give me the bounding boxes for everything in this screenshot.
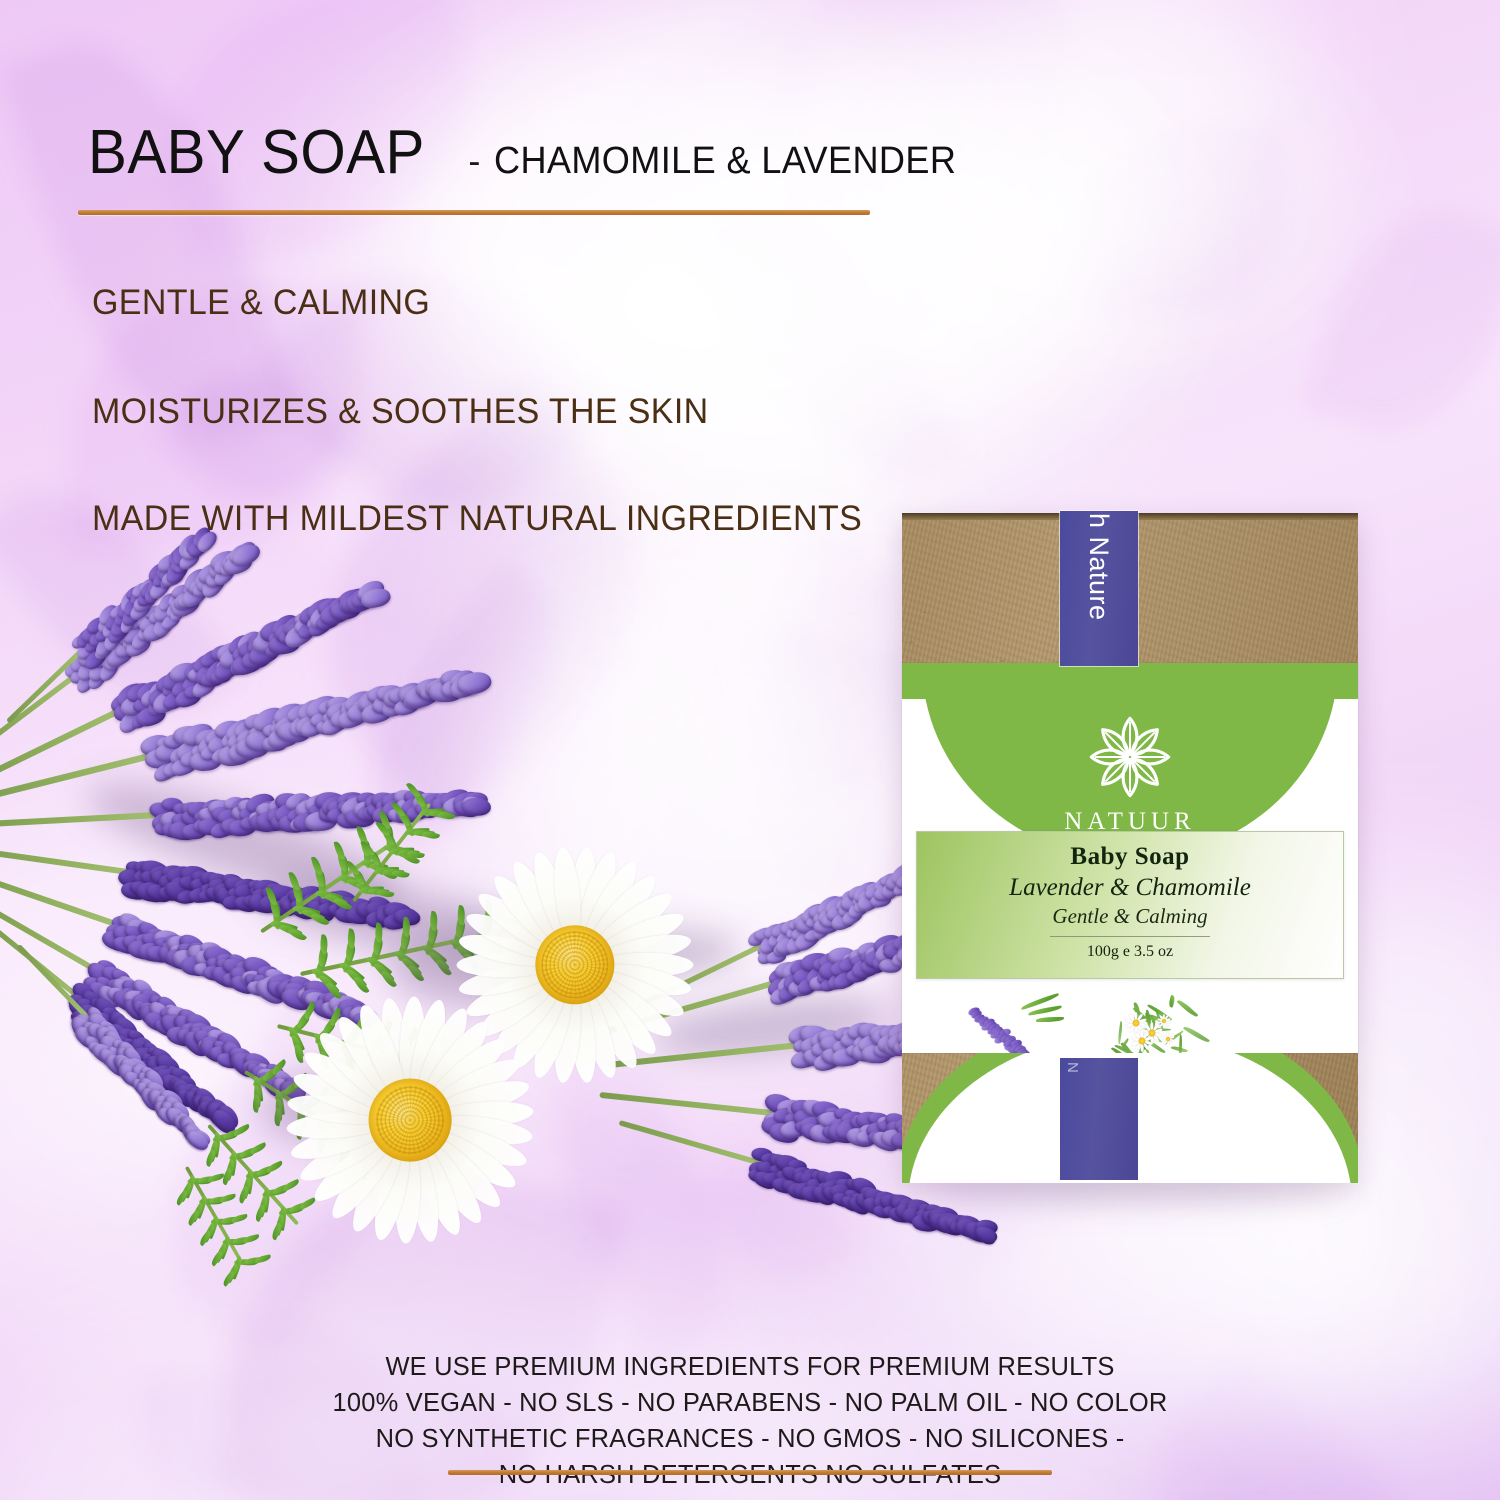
blue-band-bottom: N — [1060, 1058, 1138, 1180]
claim-line: NO SYNTHETIC FRAGRANCES - NO GMOS - NO S… — [15, 1420, 1485, 1456]
label-descriptor: Gentle & Calming — [917, 904, 1343, 929]
claims-divider — [448, 1470, 1052, 1475]
benefit-item: MOISTURIZES & SOOTHES THE SKIN — [92, 394, 907, 429]
label-variant: Lavender & Chamomile — [917, 874, 1343, 902]
label-product-name: Baby Soap — [917, 843, 1343, 871]
claim-line: WE USE PREMIUM INGREDIENTS FOR PREMIUM R… — [15, 1348, 1485, 1384]
title-subtitle: CHAMOMILE & LAVENDER — [494, 142, 956, 180]
benefit-item: GENTLE & CALMING — [92, 285, 907, 320]
label-separator — [1050, 936, 1210, 937]
botanical-decoration — [0, 600, 920, 1240]
page-title: BABY SOAP - CHAMOMILE & LAVENDER — [88, 122, 981, 184]
leaf-rosette-icon — [1084, 711, 1176, 803]
label-weight: 100g e 3.5 oz — [917, 943, 1343, 961]
blue-band-bottom-text: N — [1060, 1058, 1138, 1180]
product-marketing-image: BABY SOAP - CHAMOMILE & LAVENDER GENTLE … — [0, 0, 1500, 1500]
brand-block: NATUUR NATURAL | PURE | HANDCRAFTED — [902, 711, 1358, 849]
title-main: BABY SOAP — [88, 122, 425, 184]
title-dash: - — [468, 143, 480, 179]
product-box: NATUUR NATURAL | PURE | HANDCRAFTED Baby… — [902, 513, 1358, 1180]
chamomile-flowers-photo — [1098, 995, 1194, 1061]
product-label-card: Baby Soap Lavender & Chamomile Gentle & … — [916, 831, 1344, 979]
lavender-sprig-photo — [960, 995, 1068, 1061]
blue-band-top-text: h Nature — [1060, 511, 1138, 668]
benefit-item: MADE WITH MILDEST NATURAL INGREDIENTS — [92, 501, 907, 536]
claim-line: 100% VEGAN - NO SLS - NO PARABENS - NO P… — [15, 1384, 1485, 1420]
blue-band-top: h Nature — [1060, 511, 1138, 666]
title-divider — [78, 210, 870, 215]
